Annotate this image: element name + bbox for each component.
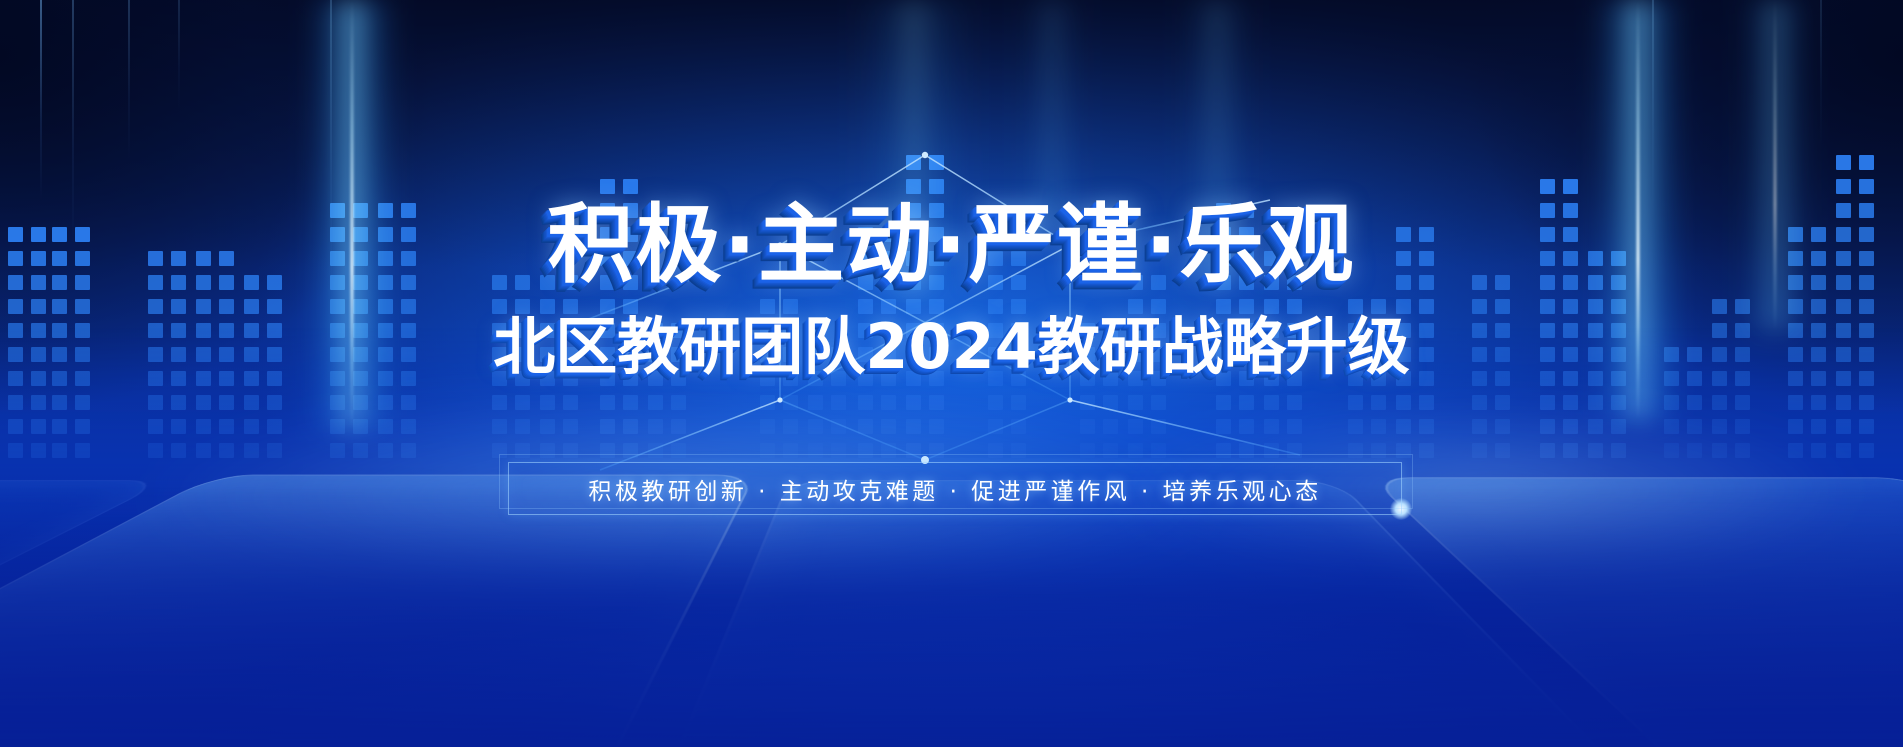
- pixel-block: [1371, 299, 1386, 314]
- pixel-block: [267, 371, 282, 386]
- pixel-block: [148, 443, 163, 458]
- pixel-block: [8, 275, 23, 290]
- pixel-block: [148, 347, 163, 362]
- pixel-block: [401, 227, 416, 242]
- tagline-bar: 积极教研创新 · 主动攻克难题 · 促进严谨作风 · 培养乐观心态: [508, 462, 1402, 515]
- pixel-block: [8, 419, 23, 434]
- pixel-block: [563, 371, 578, 386]
- pixel-block: [563, 395, 578, 410]
- pixel-block: [515, 299, 530, 314]
- pixel-block: [1080, 347, 1095, 362]
- pixel-block: [219, 275, 234, 290]
- pixel-block: [148, 395, 163, 410]
- pixel-block: [1788, 323, 1803, 338]
- pixel-block: [881, 443, 896, 458]
- pixel-block: [8, 347, 23, 362]
- pixel-block: [1611, 251, 1626, 266]
- pixel-block: [1859, 419, 1874, 434]
- pixel-block: [1151, 323, 1166, 338]
- pixel-block: [196, 323, 211, 338]
- pixel-block: [353, 371, 368, 386]
- pixel-block: [988, 419, 1003, 434]
- pixel-block: [1348, 323, 1363, 338]
- pixel-block: [492, 371, 507, 386]
- pixel-block: [1495, 299, 1510, 314]
- pixel-block: [401, 299, 416, 314]
- pixel-block: [1151, 275, 1166, 290]
- pixel-block: [1264, 419, 1279, 434]
- pixel-block: [1563, 395, 1578, 410]
- pixel-block: [219, 347, 234, 362]
- pixel-block: [1216, 251, 1231, 266]
- pixel-block: [1788, 347, 1803, 362]
- pixel-block: [540, 323, 555, 338]
- pixel-block: [219, 371, 234, 386]
- pixel-block: [1371, 419, 1386, 434]
- pixel-block: [623, 275, 638, 290]
- pixel-block: [1687, 347, 1702, 362]
- pixel-block: [1588, 419, 1603, 434]
- pixel-block: [353, 251, 368, 266]
- pixel-block: [906, 443, 921, 458]
- pixel-block: [906, 347, 921, 362]
- pixel-block: [1664, 347, 1679, 362]
- pixel-block: [1859, 203, 1874, 218]
- pixel-block: [1588, 275, 1603, 290]
- pixel-block: [515, 347, 530, 362]
- pixel-block: [760, 347, 775, 362]
- pixel-block: [1495, 419, 1510, 434]
- pixel-block: [831, 371, 846, 386]
- pixel-block: [929, 443, 944, 458]
- pixel-block: [1859, 275, 1874, 290]
- pixel-block: [623, 251, 638, 266]
- pixel-block: [1103, 347, 1118, 362]
- pixel-block: [196, 251, 211, 266]
- pixel-block: [244, 347, 259, 362]
- pixel-block: [1472, 299, 1487, 314]
- pixel-block: [353, 323, 368, 338]
- pixel-block: [881, 347, 896, 362]
- pixel-block: [148, 323, 163, 338]
- pixel-block: [244, 371, 259, 386]
- pixel-block: [671, 323, 686, 338]
- pixel-block: [1472, 347, 1487, 362]
- pixel-block: [881, 299, 896, 314]
- pixel-block: [929, 203, 944, 218]
- pixel-block: [1788, 251, 1803, 266]
- pixel-block: [31, 443, 46, 458]
- pixel-block: [1371, 371, 1386, 386]
- pixel-block: [540, 419, 555, 434]
- pixel-block: [783, 419, 798, 434]
- pixel-block: [1563, 299, 1578, 314]
- pixel-block: [1836, 251, 1851, 266]
- pixel-block: [1419, 227, 1434, 242]
- pixel-block: [831, 347, 846, 362]
- pixel-block: [267, 419, 282, 434]
- pixel-block: [1151, 443, 1166, 458]
- pixel-block: [196, 275, 211, 290]
- pixel-block: [52, 371, 67, 386]
- pixel-block: [623, 227, 638, 242]
- pixel-block: [75, 419, 90, 434]
- pixel-block: [906, 323, 921, 338]
- pixel-block: [1011, 443, 1026, 458]
- pixel-block: [31, 275, 46, 290]
- pixel-block: [929, 347, 944, 362]
- pixel-block: [171, 275, 186, 290]
- pixel-block: [1859, 323, 1874, 338]
- light-streak: [178, 0, 180, 110]
- pixel-block: [330, 203, 345, 218]
- hexagon-wireframe: [0, 0, 1903, 747]
- pixel-block: [881, 275, 896, 290]
- pixel-block: [330, 299, 345, 314]
- pixel-block: [1264, 371, 1279, 386]
- pixel-block: [1735, 419, 1750, 434]
- pixel-block: [671, 347, 686, 362]
- pixel-block: [52, 299, 67, 314]
- pixel-block: [808, 347, 823, 362]
- pixel-block: [8, 395, 23, 410]
- pixel-block: [1080, 323, 1095, 338]
- pixel-block: [75, 395, 90, 410]
- pixel-block: [600, 251, 615, 266]
- pixel-block: [75, 371, 90, 386]
- pixel-block: [1371, 443, 1386, 458]
- pixel-block: [671, 443, 686, 458]
- pixel-block: [378, 347, 393, 362]
- pixel-block: [1396, 371, 1411, 386]
- pixel-block: [858, 395, 873, 410]
- pixel-block: [1472, 395, 1487, 410]
- pixel-skyline: [0, 0, 1903, 470]
- pixel-block: [1836, 299, 1851, 314]
- pixel-block: [1788, 227, 1803, 242]
- pixel-block: [52, 419, 67, 434]
- pixel-block: [1687, 443, 1702, 458]
- pixel-block: [401, 203, 416, 218]
- light-beam: [1022, 0, 1082, 230]
- pixel-block: [1495, 275, 1510, 290]
- pixel-block: [267, 443, 282, 458]
- pixel-block: [600, 275, 615, 290]
- pixel-block: [1371, 347, 1386, 362]
- floor-plate: [470, 480, 1903, 747]
- pixel-block: [219, 299, 234, 314]
- pixel-block: [1348, 443, 1363, 458]
- pixel-block: [75, 323, 90, 338]
- pixel-block: [808, 395, 823, 410]
- pixel-block: [1811, 251, 1826, 266]
- pixel-block: [760, 419, 775, 434]
- pixel-block: [1419, 443, 1434, 458]
- pixel-block: [1811, 227, 1826, 242]
- pixel-block: [378, 443, 393, 458]
- pixel-block: [1287, 395, 1302, 410]
- pixel-block: [196, 371, 211, 386]
- pixel-block: [563, 323, 578, 338]
- pixel-block: [353, 275, 368, 290]
- top-vignette: [0, 0, 1903, 430]
- pixel-block: [378, 395, 393, 410]
- pixel-block: [1239, 203, 1254, 218]
- light-streak: [40, 0, 42, 200]
- pixel-block: [563, 443, 578, 458]
- pixel-block: [52, 251, 67, 266]
- pixel-block: [623, 419, 638, 434]
- pixel-block: [1540, 227, 1555, 242]
- pixel-block: [623, 371, 638, 386]
- pixel-block: [600, 347, 615, 362]
- pixel-block: [196, 347, 211, 362]
- pixel-block: [1563, 179, 1578, 194]
- pixel-block: [378, 251, 393, 266]
- pixel-block: [492, 275, 507, 290]
- pixel-block: [1611, 323, 1626, 338]
- pixel-block: [244, 323, 259, 338]
- pixel-block: [1419, 347, 1434, 362]
- pixel-block: [1811, 443, 1826, 458]
- pixel-block: [148, 299, 163, 314]
- pixel-block: [1151, 299, 1166, 314]
- pixel-block: [401, 323, 416, 338]
- pixel-block: [760, 443, 775, 458]
- pixel-block: [75, 227, 90, 242]
- pixel-block: [1588, 323, 1603, 338]
- pixel-block: [1264, 251, 1279, 266]
- pixel-block: [858, 275, 873, 290]
- pixel-block: [1419, 251, 1434, 266]
- pixel-block: [1687, 371, 1702, 386]
- pixel-block: [1264, 395, 1279, 410]
- pixel-block: [648, 371, 663, 386]
- pixel-block: [783, 395, 798, 410]
- pixel-block: [1472, 371, 1487, 386]
- pixel-block: [1788, 443, 1803, 458]
- pixel-block: [1588, 299, 1603, 314]
- pixel-block: [401, 443, 416, 458]
- pixel-block: [540, 275, 555, 290]
- pixel-block: [1788, 299, 1803, 314]
- pixel-block: [623, 395, 638, 410]
- pixel-block: [563, 419, 578, 434]
- pixel-block: [1472, 419, 1487, 434]
- pixel-block: [540, 299, 555, 314]
- pixel-block: [600, 371, 615, 386]
- pixel-block: [267, 299, 282, 314]
- pixel-block: [623, 347, 638, 362]
- pixel-block: [1396, 251, 1411, 266]
- pixel-block: [1103, 371, 1118, 386]
- pixel-block: [1419, 275, 1434, 290]
- pixel-block: [600, 443, 615, 458]
- pixel-block: [1735, 395, 1750, 410]
- pixel-block: [1611, 395, 1626, 410]
- tagline-text: 积极教研创新 · 主动攻克难题 · 促进严谨作风 · 培养乐观心态: [588, 472, 1321, 506]
- pixel-block: [515, 323, 530, 338]
- pixel-block: [1788, 371, 1803, 386]
- pixel-block: [1563, 419, 1578, 434]
- pixel-block: [783, 443, 798, 458]
- pixel-block: [8, 443, 23, 458]
- pixel-block: [831, 395, 846, 410]
- pixel-block: [1264, 347, 1279, 362]
- pixel-block: [267, 323, 282, 338]
- pixel-block: [1216, 227, 1231, 242]
- pixel-block: [515, 443, 530, 458]
- pixel-block: [171, 443, 186, 458]
- pixel-block: [929, 155, 944, 170]
- light-beam: [1740, 0, 1810, 330]
- pixel-block: [600, 179, 615, 194]
- pixel-block: [1859, 155, 1874, 170]
- pixel-block: [1540, 395, 1555, 410]
- pixel-block: [988, 323, 1003, 338]
- pixel-block: [148, 275, 163, 290]
- pixel-block: [1563, 347, 1578, 362]
- pixel-block: [401, 395, 416, 410]
- pixel-block: [671, 419, 686, 434]
- pixel-block: [858, 443, 873, 458]
- light-beam: [306, 0, 398, 430]
- pixel-block: [1836, 371, 1851, 386]
- pixel-block: [600, 419, 615, 434]
- floor-plate: [0, 327, 1903, 747]
- pixel-block: [1080, 443, 1095, 458]
- pixel-block: [988, 251, 1003, 266]
- pixel-block: [1287, 419, 1302, 434]
- pixel-block: [8, 371, 23, 386]
- pixel-block: [858, 347, 873, 362]
- pixel-block: [540, 371, 555, 386]
- pixel-block: [1540, 443, 1555, 458]
- pixel-block: [353, 443, 368, 458]
- pixel-block: [1396, 275, 1411, 290]
- pixel-block: [1348, 347, 1363, 362]
- pixel-block: [1011, 275, 1026, 290]
- pixel-block: [353, 347, 368, 362]
- pixel-block: [1151, 419, 1166, 434]
- pixel-block: [1859, 347, 1874, 362]
- pixel-block: [1859, 395, 1874, 410]
- pixel-block: [1563, 203, 1578, 218]
- pixel-block: [1836, 155, 1851, 170]
- floor-plate: [0, 475, 756, 747]
- pixel-block: [1151, 347, 1166, 362]
- pixel-block: [330, 371, 345, 386]
- pixel-block: [1788, 275, 1803, 290]
- pixel-block: [171, 251, 186, 266]
- pixel-block: [1080, 419, 1095, 434]
- pixel-block: [1239, 419, 1254, 434]
- pixel-block: [1859, 251, 1874, 266]
- pixel-block: [1103, 323, 1118, 338]
- pixel-block: [1216, 371, 1231, 386]
- pixel-block: [1563, 443, 1578, 458]
- pixel-block: [1540, 299, 1555, 314]
- pixel-block: [1128, 275, 1143, 290]
- pixel-block: [1712, 323, 1727, 338]
- pixel-block: [858, 371, 873, 386]
- floor-plate: [0, 327, 1903, 747]
- pixel-block: [988, 299, 1003, 314]
- pixel-block: [1712, 419, 1727, 434]
- pixel-block: [1811, 419, 1826, 434]
- pixel-block: [1396, 227, 1411, 242]
- pixel-block: [353, 227, 368, 242]
- pixel-block: [1011, 323, 1026, 338]
- pixel-block: [219, 323, 234, 338]
- floor-plate: [0, 327, 1903, 747]
- pixel-block: [1371, 395, 1386, 410]
- pixel-block: [1836, 443, 1851, 458]
- pixel-block: [1419, 323, 1434, 338]
- pixel-block: [1103, 419, 1118, 434]
- pixel-block: [401, 371, 416, 386]
- pixel-block: [1011, 371, 1026, 386]
- pixel-block: [1712, 371, 1727, 386]
- pixel-block: [858, 251, 873, 266]
- pixel-block: [353, 395, 368, 410]
- pixel-block: [515, 419, 530, 434]
- pixel-block: [929, 299, 944, 314]
- pixel-block: [623, 179, 638, 194]
- pixel-block: [353, 299, 368, 314]
- pixel-block: [171, 299, 186, 314]
- pixel-block: [1128, 323, 1143, 338]
- pixel-block: [515, 371, 530, 386]
- pixel-block: [244, 275, 259, 290]
- pixel-block: [1287, 251, 1302, 266]
- pixel-block: [858, 299, 873, 314]
- pixel-block: [330, 395, 345, 410]
- pixel-block: [1735, 371, 1750, 386]
- pixel-block: [1563, 275, 1578, 290]
- pixel-block: [1540, 371, 1555, 386]
- pixel-block: [8, 227, 23, 242]
- pixel-block: [1103, 443, 1118, 458]
- light-streak: [128, 0, 130, 160]
- pixel-block: [401, 251, 416, 266]
- pixel-block: [1611, 443, 1626, 458]
- pixel-block: [1788, 419, 1803, 434]
- pixel-block: [600, 323, 615, 338]
- pixel-block: [1128, 371, 1143, 386]
- pixel-block: [1287, 299, 1302, 314]
- pixel-block: [148, 371, 163, 386]
- pixel-block: [600, 227, 615, 242]
- floor-plate: [0, 327, 1903, 747]
- pixel-block: [378, 323, 393, 338]
- pixel-block: [929, 227, 944, 242]
- pixel-block: [1588, 443, 1603, 458]
- pixel-block: [1859, 443, 1874, 458]
- pixel-block: [906, 155, 921, 170]
- pixel-block: [1664, 371, 1679, 386]
- pixel-block: [988, 395, 1003, 410]
- pixel-block: [1348, 395, 1363, 410]
- pixel-block: [1396, 299, 1411, 314]
- pixel-block: [330, 275, 345, 290]
- pixel-block: [196, 395, 211, 410]
- floor-plate: [0, 480, 169, 747]
- pixel-block: [906, 179, 921, 194]
- pixel-block: [1239, 275, 1254, 290]
- page-subtitle: 北区教研团队2024教研战略升级: [0, 316, 1903, 378]
- pixel-block: [31, 227, 46, 242]
